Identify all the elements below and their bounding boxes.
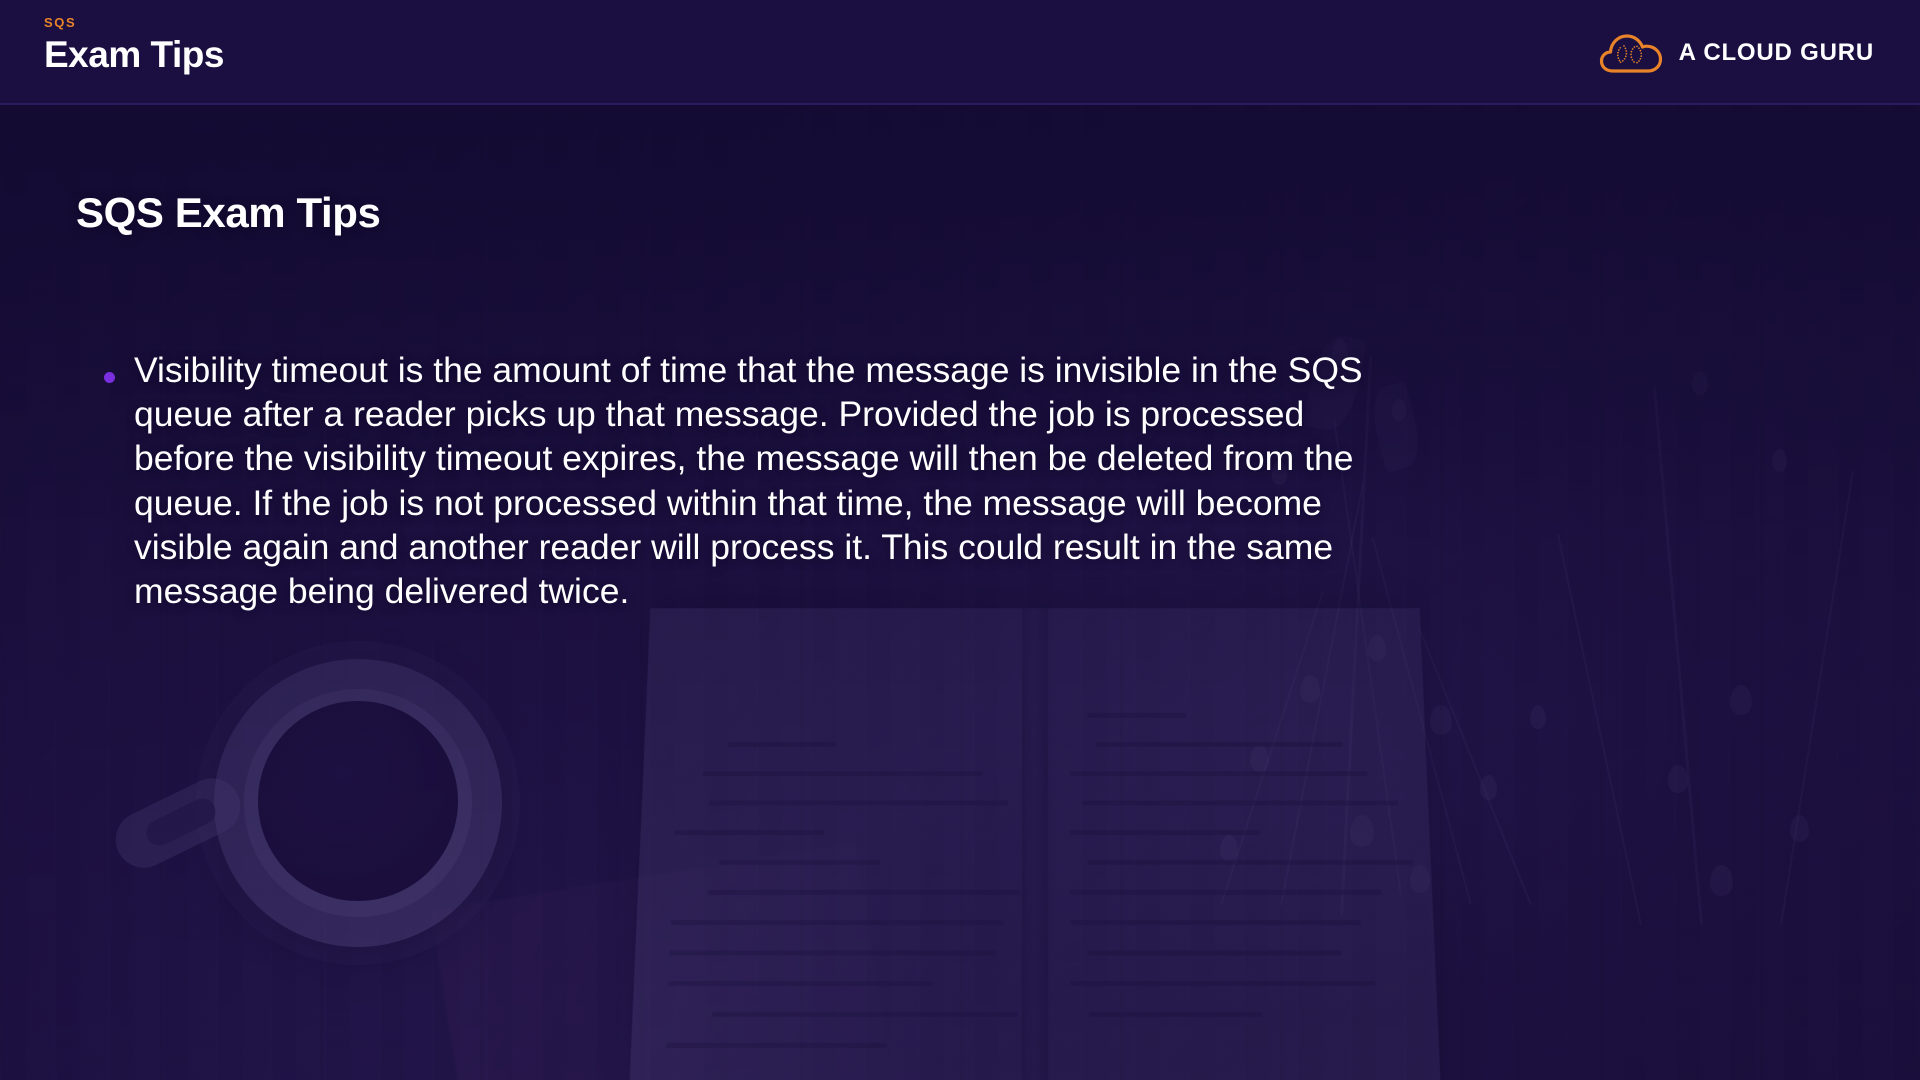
bullet-dot-icon (104, 372, 115, 383)
header-titles: SQS Exam Tips (44, 16, 224, 75)
list-item: Visibility timeout is the amount of time… (104, 348, 1784, 613)
bullet-text: Visibility timeout is the amount of time… (134, 348, 1402, 613)
brand-name: A CLOUD GURU (1679, 39, 1874, 67)
slide-content: SQS Exam Tips Visibility timeout is the … (0, 105, 1920, 1080)
cloud-guru-cloud-icon (1599, 30, 1663, 76)
bullet-list: Visibility timeout is the amount of time… (104, 348, 1784, 613)
slide-header: SQS Exam Tips (0, 0, 1920, 105)
brand-lockup: A CLOUD GURU (1599, 0, 1874, 105)
presentation-slide: SQS Exam Tips (0, 0, 1920, 1080)
slide-title: SQS Exam Tips (76, 189, 381, 237)
header-title: Exam Tips (44, 36, 224, 75)
header-eyebrow-label: SQS (44, 16, 224, 29)
